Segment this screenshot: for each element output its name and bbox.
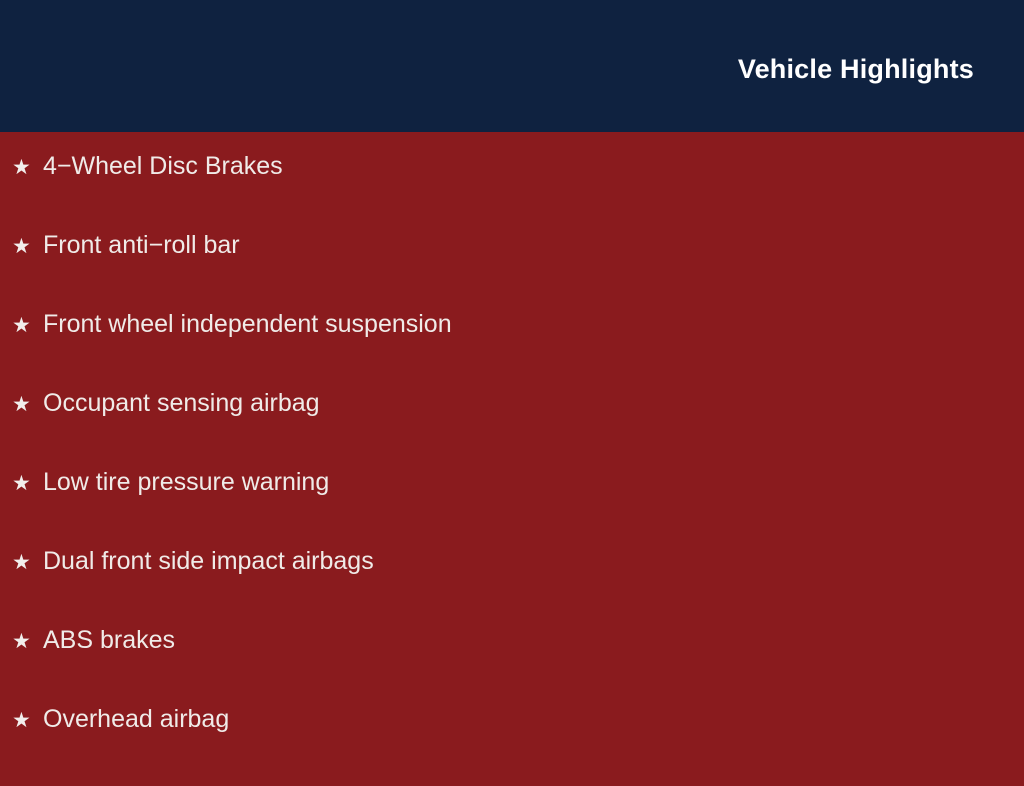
star-icon: ★ [12,710,43,731]
list-item: ★ Dual front side impact airbags [0,549,1024,628]
star-icon: ★ [12,315,43,336]
star-icon: ★ [12,631,43,652]
page-title: Vehicle Highlights [738,56,974,83]
vehicle-highlights-slide: Vehicle Highlights ★ 4−Wheel Disc Brakes… [0,0,1024,768]
list-item: ★ Front anti−roll bar [0,233,1024,312]
star-icon: ★ [12,394,43,415]
list-item-label: Front anti−roll bar [43,233,240,258]
list-item: ★ 4−Wheel Disc Brakes [0,154,1024,233]
vehicle-highlights-list: ★ 4−Wheel Disc Brakes ★ Front anti−roll … [0,154,1024,786]
list-item-label: ABS brakes [43,628,175,653]
list-item: ★ Front wheel independent suspension [0,312,1024,391]
list-item-label: Overhead airbag [43,707,229,732]
slide-body: ★ 4−Wheel Disc Brakes ★ Front anti−roll … [0,132,1024,786]
star-icon: ★ [12,552,43,573]
list-item-label: Front wheel independent suspension [43,312,452,337]
list-item: ★ Occupant sensing airbag [0,391,1024,470]
list-item-label: Dual front side impact airbags [43,549,374,574]
list-item: ★ ABS brakes [0,628,1024,707]
list-item-label: 4−Wheel Disc Brakes [43,154,283,179]
star-icon: ★ [12,473,43,494]
star-icon: ★ [12,157,43,178]
star-icon: ★ [12,236,43,257]
list-item: ★ Low tire pressure warning [0,470,1024,549]
list-item: ★ Overhead airbag [0,707,1024,786]
slide-header: Vehicle Highlights [0,0,1024,132]
list-item-label: Occupant sensing airbag [43,391,320,416]
list-item-label: Low tire pressure warning [43,470,329,495]
